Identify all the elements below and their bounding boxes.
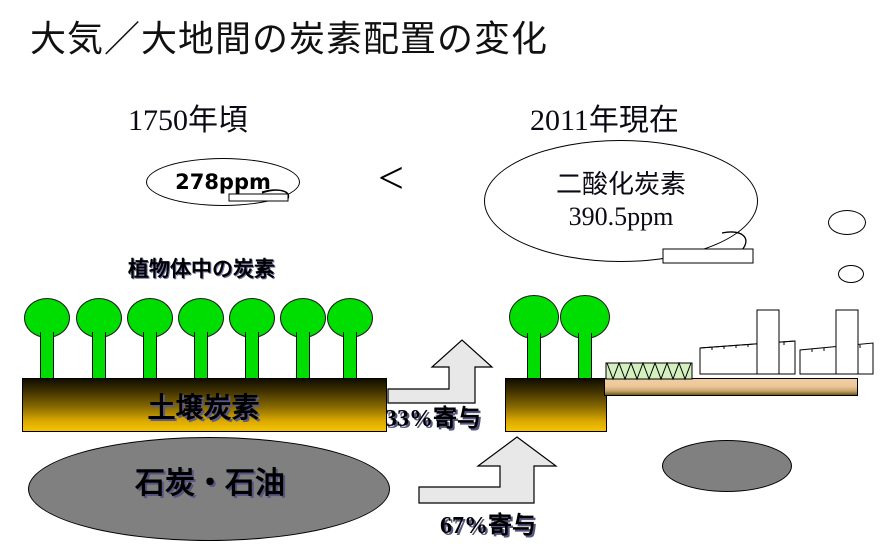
smoke-puff-large-icon	[828, 210, 866, 235]
less-than-symbol: <	[378, 158, 404, 198]
left-year-label: 1750年頃	[128, 95, 248, 139]
tree-trunk-icon	[143, 332, 157, 380]
tree-trunk-icon	[343, 332, 357, 380]
right-co2-bubble: 二酸化炭素 390.5ppm	[484, 140, 758, 262]
fossil-fuel-label: 石炭・石油	[30, 458, 390, 502]
right-soil-carbon-block	[505, 378, 607, 432]
tree-trunk-icon	[194, 332, 208, 380]
soil-carbon-label: 土壌炭素	[22, 386, 385, 426]
tree-trunk-icon	[527, 333, 541, 380]
ground-strip	[604, 378, 858, 396]
page-title: 大気／大地間の炭素配置の変化	[30, 10, 548, 62]
grass-zigzag-icon	[606, 363, 692, 379]
plant-carbon-label: 植物体中の炭素	[128, 253, 275, 283]
left-co2-value: 278ppm	[175, 170, 271, 194]
fossil-contribution-arrow-shape	[419, 437, 556, 503]
smoke-puff-small-icon	[838, 265, 864, 283]
right-co2-value: 390.5ppm	[556, 201, 686, 233]
right-fossil-fuel-ellipse	[662, 440, 792, 492]
fossil-contribution-label: 67%寄与	[440, 505, 536, 540]
right-year-label: 2011年現在	[530, 95, 679, 139]
soil-contribution-label: 33%寄与	[385, 398, 481, 433]
tree-trunk-icon	[578, 333, 592, 380]
tree-trunk-icon	[245, 332, 259, 380]
soil-contribution-arrow-shape	[388, 340, 492, 403]
tree-trunk-icon	[92, 332, 106, 380]
left-co2-bubble: 278ppm	[146, 158, 300, 206]
right-co2-text: 二酸化炭素 390.5ppm	[556, 169, 686, 233]
tree-trunk-icon	[296, 332, 310, 380]
factory-icon	[700, 310, 873, 374]
tree-trunk-icon	[40, 332, 54, 380]
slide-canvas: 大気／大地間の炭素配置の変化 1750年頃 2011年現在 < 278ppm 二…	[0, 0, 880, 559]
right-co2-name: 二酸化炭素	[556, 169, 686, 201]
